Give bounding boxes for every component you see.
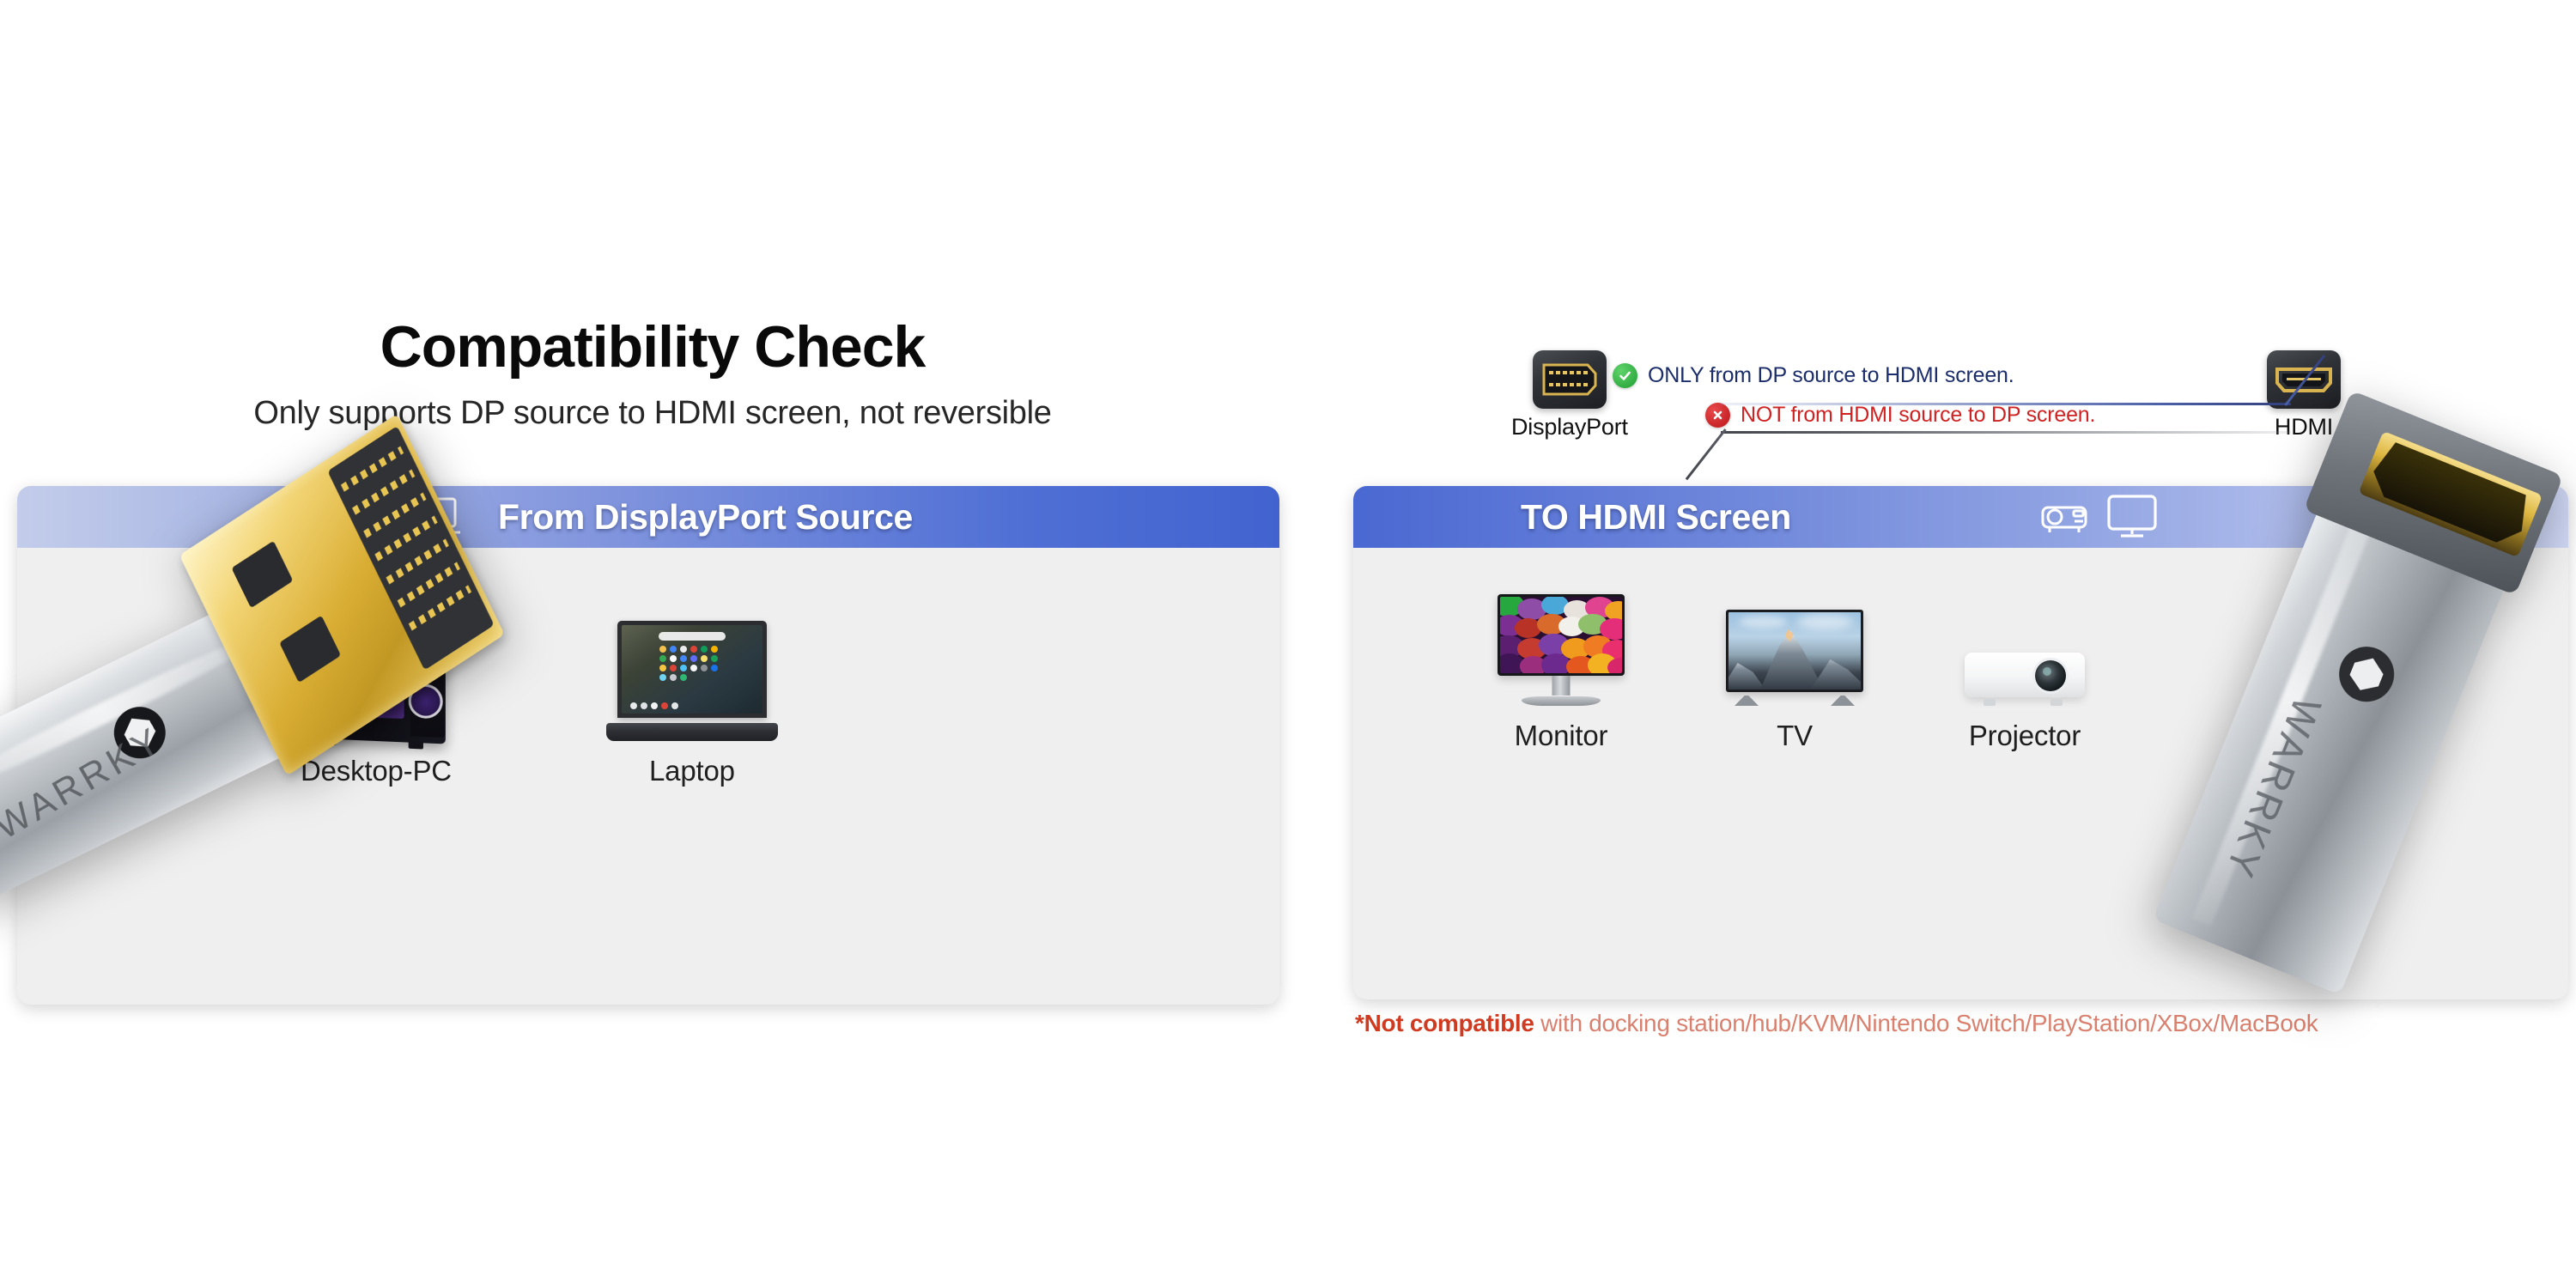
compatibility-disclaimer: *Not compatible with docking station/hub… bbox=[1355, 1010, 2318, 1037]
device-label-monitor: Monitor bbox=[1515, 720, 1608, 752]
displayport-port-icon bbox=[1533, 350, 1607, 409]
device-projector: Projector bbox=[1965, 646, 2085, 752]
disclaimer-bold: *Not compatible bbox=[1355, 1010, 1534, 1036]
direction-rows: ONLY from DP source to HDMI screen. NOT … bbox=[1613, 355, 2291, 434]
left-band-title: From DisplayPort Source bbox=[498, 497, 913, 538]
page-title: Compatibility Check bbox=[380, 318, 926, 376]
device-label-laptop: Laptop bbox=[649, 755, 735, 787]
direction-row-blocked: NOT from HDMI source to DP screen. bbox=[1613, 395, 2291, 434]
headline-block: Compatibility Check Only supports DP sou… bbox=[17, 318, 1288, 432]
device-tv: TV bbox=[1726, 610, 1863, 752]
device-label-tv: TV bbox=[1777, 720, 1813, 752]
displayport-connector-block: DisplayPort bbox=[1511, 350, 1628, 440]
target-device-list: Monitor TV bbox=[1498, 594, 2085, 752]
projector-icon bbox=[2040, 498, 2092, 536]
device-monitor: Monitor bbox=[1498, 594, 1625, 752]
monitor-icon bbox=[2107, 495, 2157, 539]
gold-hdmi-receptacle bbox=[2359, 431, 2543, 557]
compatibility-direction-diagram: DisplayPort HDMI ONLY from DP source to … bbox=[1511, 350, 2387, 479]
device-label-projector: Projector bbox=[1969, 720, 2081, 752]
flat-screen-tv-icon bbox=[1726, 610, 1863, 706]
arrow-line-blocked bbox=[1721, 431, 2291, 434]
check-icon bbox=[1613, 363, 1637, 388]
chromebook-laptop-icon bbox=[606, 621, 778, 741]
infographic-canvas: Compatibility Check Only supports DP sou… bbox=[0, 0, 2576, 1288]
video-projector-icon bbox=[1965, 646, 2085, 706]
displayport-label: DisplayPort bbox=[1511, 414, 1628, 440]
arrow-line-allowed bbox=[1721, 403, 2291, 405]
direction-text-allowed: ONLY from DP source to HDMI screen. bbox=[1648, 363, 2014, 388]
desktop-monitor-icon bbox=[1498, 594, 1625, 706]
disclaimer-rest: with docking station/hub/KVM/Nintendo Sw… bbox=[1534, 1010, 2318, 1036]
cross-icon bbox=[1705, 403, 1730, 428]
right-band-icon-group bbox=[2040, 495, 2157, 539]
arrow-head-blocked bbox=[1686, 428, 1727, 480]
device-laptop: Laptop bbox=[606, 621, 778, 787]
right-band-title: TO HDMI Screen bbox=[1521, 497, 1791, 538]
dp-port-glyph bbox=[1541, 360, 1598, 399]
page-subtitle: Only supports DP source to HDMI screen, … bbox=[17, 395, 1288, 432]
direction-text-blocked: NOT from HDMI source to DP screen. bbox=[1741, 403, 2095, 428]
direction-row-allowed: ONLY from DP source to HDMI screen. bbox=[1613, 355, 2291, 395]
